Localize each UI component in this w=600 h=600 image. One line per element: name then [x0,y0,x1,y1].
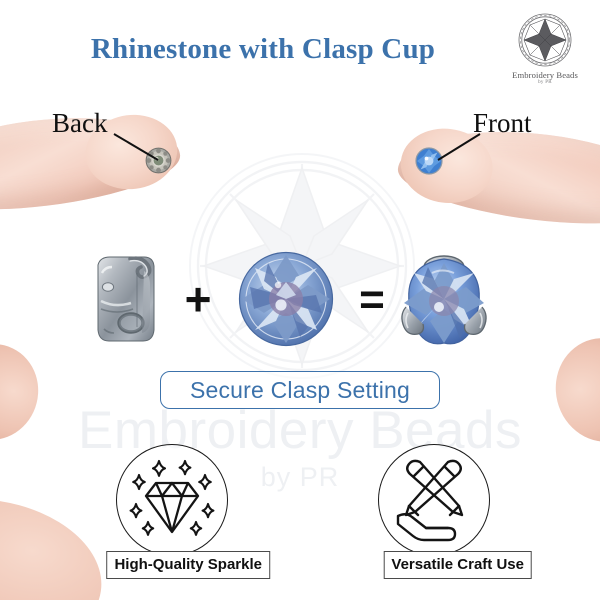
feature-icon-circle-left [116,444,228,556]
blue-round-crystal-stone [238,251,334,347]
feature-versatile-craft-use: Versatile Craft Use [336,444,532,579]
feature-high-quality-sparkle: High-Quality Sparkle [74,444,270,579]
callout-label-back: Back [52,108,107,139]
product-assembly-equation: + [86,245,496,357]
brand-name: Embroidery Beads [505,70,585,80]
diamond-with-sparkles-icon [126,456,218,544]
feature-icon-circle-right [378,444,490,556]
feature-caption-right: Versatile Craft Use [383,551,532,579]
callout-label-front: Front [473,108,532,139]
silver-rhinestone-back-on-fingertip [145,147,172,174]
fingertip-middle-left [0,335,48,450]
blue-rhinestone-set-in-clasp-cup [398,251,490,347]
secure-clasp-setting-label: Secure Clasp Setting [190,377,410,404]
plus-symbol: + [178,277,218,321]
fingertip-middle-right [545,328,600,452]
page-title: Rhinestone with Clasp Cup [28,33,498,66]
blue-rhinestone-front-on-fingertip [415,147,443,175]
silver-clasp-cup [90,251,156,347]
brand-sub: by PR [505,80,585,85]
eight-point-star-mandala-logo [505,12,585,70]
hand-holding-craft-tools-icon [388,456,480,544]
feature-caption-left: High-Quality Sparkle [106,551,270,579]
product-infographic: Embroidery Beads by PR Rhinestone with C… [0,0,600,600]
secure-clasp-setting-badge: Secure Clasp Setting [160,371,440,409]
brand-logo: Embroidery Beads by PR [505,12,585,94]
equals-symbol: = [344,279,400,321]
